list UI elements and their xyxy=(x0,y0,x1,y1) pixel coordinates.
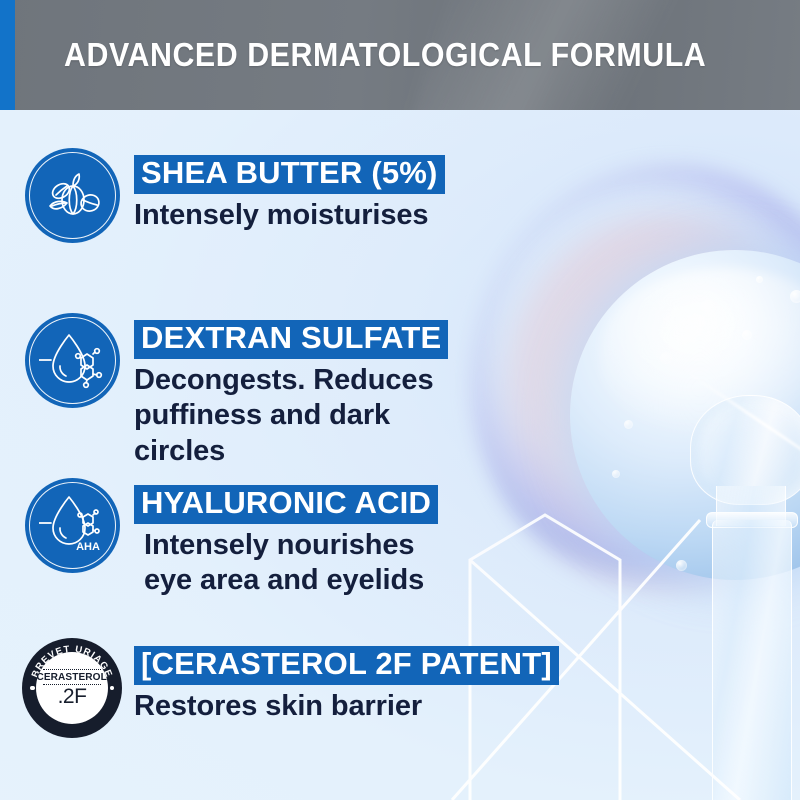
cerasterol-text: [CERASTEROL 2F PATENT] Restores skin bar… xyxy=(134,646,559,724)
header-banner: ADVANCED DERMATOLOGICAL FORMULA xyxy=(0,0,800,110)
ingredient-heading: SHEA BUTTER (5%) xyxy=(134,155,445,194)
ingredient-heading: DEXTRAN SULFATE xyxy=(134,320,448,359)
shea-butter-icon-wrap xyxy=(25,148,120,243)
badge-dot-left xyxy=(30,686,35,691)
cerasterol-badge-wrap: BREVET URIAGE URIAGE PATENT CERASTEROL .… xyxy=(22,638,122,738)
water-droplet-molecule-icon xyxy=(25,313,120,408)
ingredient-list: SHEA BUTTER (5%) Intensely moisturises xyxy=(0,110,800,800)
ingredient-heading: [CERASTEROL 2F PATENT] xyxy=(134,646,559,685)
badge-product-name: CERASTEROL xyxy=(37,672,107,683)
ingredient-description: Intensely nourishes eye area and eyelids xyxy=(144,528,438,599)
ingredient-description: Restores skin barrier xyxy=(134,689,559,724)
dextran-sulfate-text: DEXTRAN SULFATE Decongests. Reduces puff… xyxy=(134,320,448,469)
cerasterol-patent-badge: BREVET URIAGE URIAGE PATENT CERASTEROL .… xyxy=(22,638,122,738)
hyaluronic-acid-icon-wrap: AHA xyxy=(25,478,120,573)
water-droplet-aha-icon: AHA xyxy=(25,478,120,573)
ingredient-heading: HYALURONIC ACID xyxy=(134,485,438,524)
badge-center: CERASTEROL .2F xyxy=(36,652,108,724)
aha-label: AHA xyxy=(76,541,100,553)
hyaluronic-acid-text: HYALURONIC ACID Intensely nourishes eye … xyxy=(134,485,438,599)
shea-nuts-icon xyxy=(25,148,120,243)
badge-code: .2F xyxy=(58,686,87,707)
dextran-sulfate-icon-wrap xyxy=(25,313,120,408)
shea-butter-text: SHEA BUTTER (5%) Intensely moisturises xyxy=(134,155,445,233)
header-accent-bar xyxy=(0,0,15,110)
ingredient-description: Intensely moisturises xyxy=(134,198,445,233)
page-title: ADVANCED DERMATOLOGICAL FORMULA xyxy=(64,36,706,74)
badge-dot-right xyxy=(110,686,115,691)
ingredient-description: Decongests. Reduces puffiness and dark c… xyxy=(134,363,448,469)
